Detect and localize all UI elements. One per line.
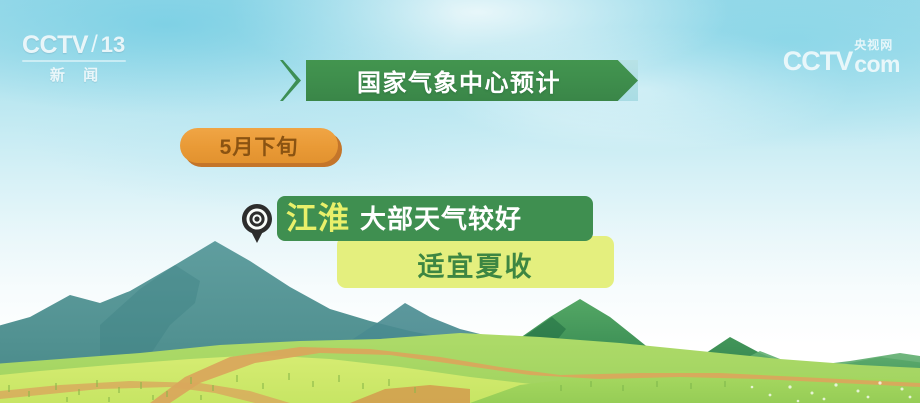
cctv-channel-number: 13: [101, 31, 125, 59]
location-pin-icon: [240, 202, 274, 244]
watermark-domain: com: [854, 52, 900, 76]
forecast-region-name: 江淮: [286, 202, 350, 236]
header-ribbon: 国家气象中心预计: [280, 60, 638, 101]
broadcast-screenshot: CCTV / 13 新 闻 CCTV 央视网 com 国家气象中心预计 5月下旬: [0, 0, 920, 405]
period-badge: 5月下旬: [180, 128, 342, 167]
cctv-channel-subtitle: 新 闻: [22, 64, 126, 85]
forecast-second-line-box: 适宜夏收: [337, 236, 614, 288]
forecast-description: 大部天气较好: [360, 204, 522, 234]
watermark-right-group: 央视网 com: [854, 39, 900, 76]
header-ribbon-title: 国家气象中心预计: [306, 60, 612, 101]
cctv-com-watermark: CCTV 央视网 com: [783, 34, 900, 76]
cctv13-channel-logo: CCTV / 13 新 闻: [22, 31, 142, 83]
forecast-primary-box: 江淮 大部天气较好: [277, 196, 593, 241]
cctv-logo-slash: /: [91, 31, 98, 59]
forecast-second-line-text: 适宜夏收: [418, 241, 534, 284]
cctv-wordmark: CCTV: [22, 31, 88, 59]
cctv-logo-row: CCTV / 13: [22, 31, 142, 59]
watermark-brand: CCTV: [783, 46, 853, 76]
period-badge-label: 5月下旬: [220, 131, 299, 161]
chevron-right-icon: [280, 60, 301, 101]
cctv-logo-underline: [22, 60, 126, 62]
period-badge-body: 5月下旬: [180, 128, 338, 163]
